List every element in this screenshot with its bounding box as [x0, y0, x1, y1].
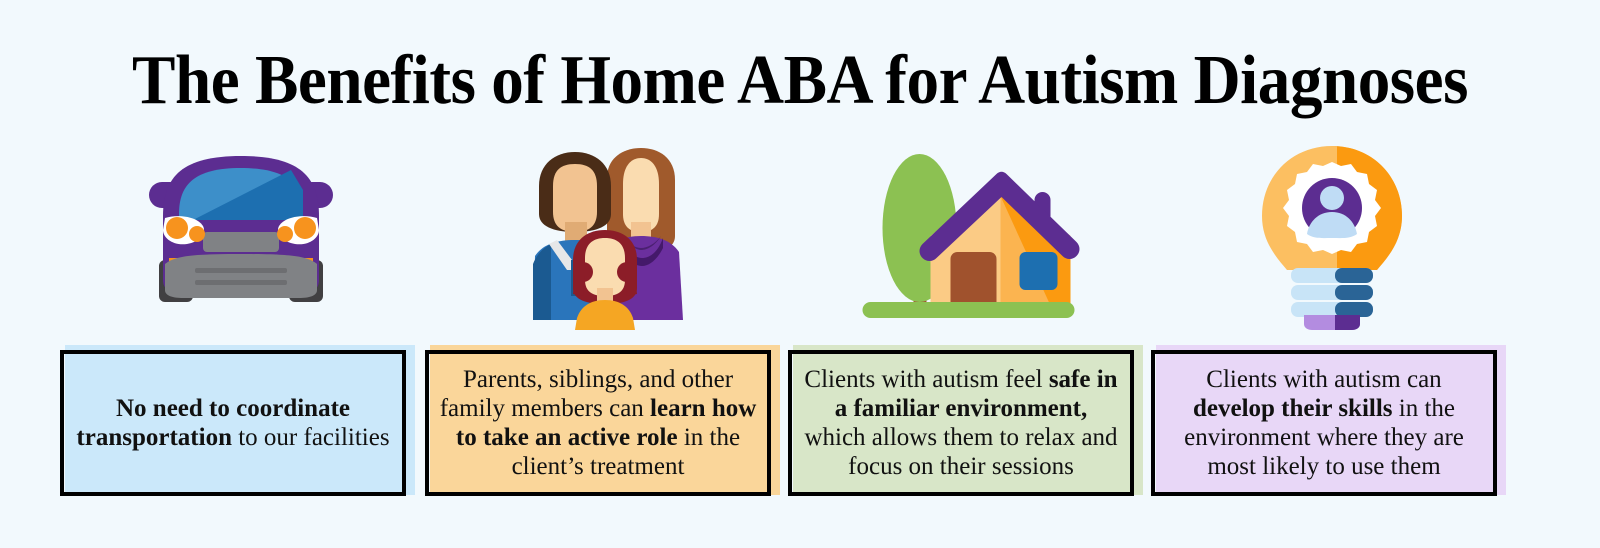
- benefit-text-plain-lead: Clients with autism feel: [804, 366, 1048, 393]
- icon-area: [60, 140, 422, 335]
- box-outline: Clients with autism feel safe in a famil…: [788, 350, 1134, 496]
- page-title: The Benefits of Home ABA for Autism Diag…: [56, 40, 1544, 122]
- benefit-text-plain-tail: which allows them to relax and focus on …: [804, 424, 1117, 480]
- benefit-box: Clients with autism can develop their sk…: [1151, 345, 1503, 497]
- benefit-column-transportation: No need to coordinate transportation to …: [60, 140, 422, 508]
- benefit-column-home: Clients with autism feel safe in a famil…: [788, 140, 1150, 508]
- lightbulb-gear-person-icon: [1247, 140, 1417, 330]
- benefit-text: Clients with autism feel safe in a famil…: [796, 365, 1126, 481]
- box-outline: No need to coordinate transportation to …: [60, 350, 406, 496]
- benefit-text-bold: develop their skills: [1193, 395, 1393, 422]
- box-outline: Clients with autism can develop their sk…: [1151, 350, 1497, 496]
- benefit-box: Parents, siblings, and other family memb…: [425, 345, 777, 497]
- infographic-root: The Benefits of Home ABA for Autism Diag…: [0, 0, 1600, 548]
- benefit-box: No need to coordinate transportation to …: [60, 345, 412, 497]
- icon-area: [425, 140, 787, 335]
- family-icon: [511, 140, 701, 330]
- benefit-box: Clients with autism feel safe in a famil…: [788, 345, 1140, 497]
- benefit-text: No need to coordinate transportation to …: [68, 394, 398, 452]
- benefit-text: Parents, siblings, and other family memb…: [433, 365, 763, 481]
- box-outline: Parents, siblings, and other family memb…: [425, 350, 771, 496]
- benefit-column-skills: Clients with autism can develop their sk…: [1151, 140, 1513, 508]
- icon-area: [788, 140, 1150, 335]
- benefit-column-family: Parents, siblings, and other family memb…: [425, 140, 787, 508]
- benefit-text-plain: to our facilities: [232, 424, 390, 451]
- icon-area: [1151, 140, 1513, 335]
- benefit-text: Clients with autism can develop their sk…: [1159, 365, 1489, 481]
- benefit-text-plain-lead: Clients with autism can: [1206, 366, 1441, 393]
- house-with-tree-icon: [857, 140, 1082, 330]
- car-icon: [141, 140, 341, 330]
